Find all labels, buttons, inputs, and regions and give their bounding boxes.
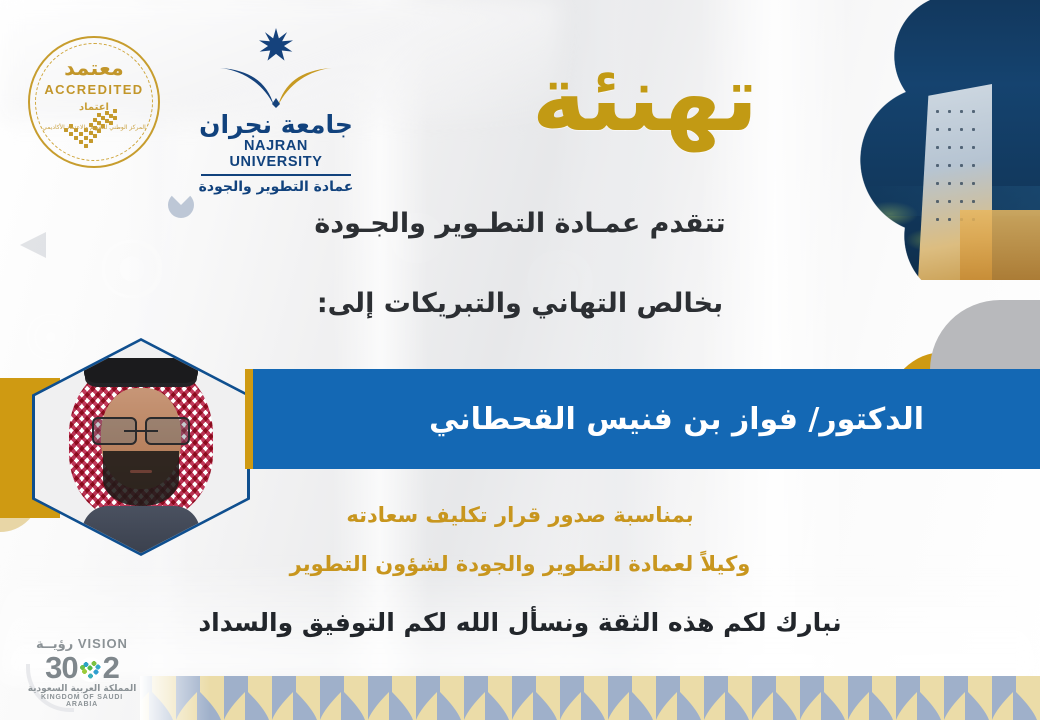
chevron-cell	[848, 676, 872, 720]
headline-line-1: تتقدم عمـادة التطـوير والجـودة	[0, 208, 1040, 239]
chevron-cell	[488, 676, 512, 720]
chevron-cell	[344, 676, 368, 720]
vision-word-en: VISION	[78, 636, 128, 651]
chevron-cell	[584, 676, 608, 720]
chevron-cell	[680, 676, 704, 720]
seal-english-label: ACCREDITED	[28, 82, 160, 97]
gold-line-1: بمناسبة صدور قرار تكليف سعادته	[0, 503, 1040, 527]
vision-year: 230	[24, 652, 140, 683]
university-name-arabic: جامعة نجران	[196, 112, 356, 137]
university-logo: جامعة نجران NAJRAN UNIVERSITY عمادة التط…	[196, 28, 356, 195]
chevron-strip-fade	[140, 676, 210, 720]
chevron-cell	[320, 676, 344, 720]
gold-line-2: وكيلاً لعمادة التطوير والجودة لشؤون التط…	[0, 552, 1040, 576]
kingdom-english: KINGDOM OF SAUDI ARABIA	[24, 694, 140, 708]
chevron-cell	[440, 676, 464, 720]
chevron-cell	[944, 676, 968, 720]
honoree-name: الدكتور/ فواز بن فنيس القحطاني	[253, 369, 1040, 469]
chevron-cell	[368, 676, 392, 720]
chevron-cell	[512, 676, 536, 720]
chevron-cell	[464, 676, 488, 720]
headline-line-2: بخالص التهاني والتبريكات إلى:	[0, 288, 1040, 319]
chevron-cell	[1016, 676, 1040, 720]
chevron-cell	[536, 676, 560, 720]
chevron-cell	[296, 676, 320, 720]
logo-divider	[201, 174, 351, 176]
background-light-4	[36, 330, 66, 344]
title-text: تهنئة	[520, 34, 770, 164]
chevron-cell	[560, 676, 584, 720]
chevron-cell	[992, 676, 1016, 720]
background-light-1	[118, 262, 146, 276]
chevron-cell	[824, 676, 848, 720]
title-calligraphy: تهنئة	[520, 34, 770, 164]
bottom-chevron-strip	[140, 676, 1040, 720]
eyeglasses	[92, 417, 190, 440]
chevron-cell	[896, 676, 920, 720]
accreditation-seal: معتمد ACCREDITED اعتماد المركز الوطني لل…	[28, 36, 160, 168]
chevron-cell	[224, 676, 248, 720]
chevron-cell	[968, 676, 992, 720]
chevron-cell	[608, 676, 632, 720]
congratulation-poster: معتمد ACCREDITED اعتماد المركز الوطني لل…	[0, 0, 1040, 720]
background-light-3	[548, 276, 572, 288]
chevron-cell	[632, 676, 656, 720]
vision-year-prefix: 2	[103, 650, 119, 685]
kingdom-arabic: المملكة العربية السعودية	[24, 684, 140, 694]
chevron-cell	[920, 676, 944, 720]
chevron-cell	[656, 676, 680, 720]
chevron-cell	[416, 676, 440, 720]
chevron-cell	[272, 676, 296, 720]
vision-emblem-icon	[78, 657, 103, 682]
vision-year-suffix: 30	[45, 650, 77, 685]
university-name-english: NAJRAN UNIVERSITY	[196, 138, 356, 170]
chevron-cell	[752, 676, 776, 720]
chevron-cell	[800, 676, 824, 720]
chevron-cell	[248, 676, 272, 720]
chevron-cell	[392, 676, 416, 720]
vision-wordmark: VISION رؤيــة	[24, 636, 140, 652]
glasses-bridge	[124, 430, 158, 432]
star-burst-icon	[259, 28, 293, 62]
chevron-cell	[776, 676, 800, 720]
deanship-label: عمادة التطوير والجودة	[196, 179, 356, 195]
honoree-name-bar: الدكتور/ فواز بن فنيس القحطاني	[253, 369, 1040, 469]
portrait-beard	[103, 451, 179, 506]
swoosh-icon	[216, 64, 336, 108]
vision-2030-logo: VISION رؤيــة 230 المملكة العربية السعود…	[24, 636, 140, 708]
closing-line: نبارك لكم هذه الثقة ونسأل الله لكم التوف…	[0, 608, 1040, 637]
portrait-mouth	[130, 470, 151, 473]
seal-body-text: المركز الوطني للتقويم والاعتماد الأكاديم…	[28, 124, 160, 132]
seal-arabic-label: معتمد	[28, 56, 160, 80]
chevron-cell	[704, 676, 728, 720]
chevron-cell	[872, 676, 896, 720]
igal-cord	[84, 358, 198, 383]
chevron-cell	[728, 676, 752, 720]
